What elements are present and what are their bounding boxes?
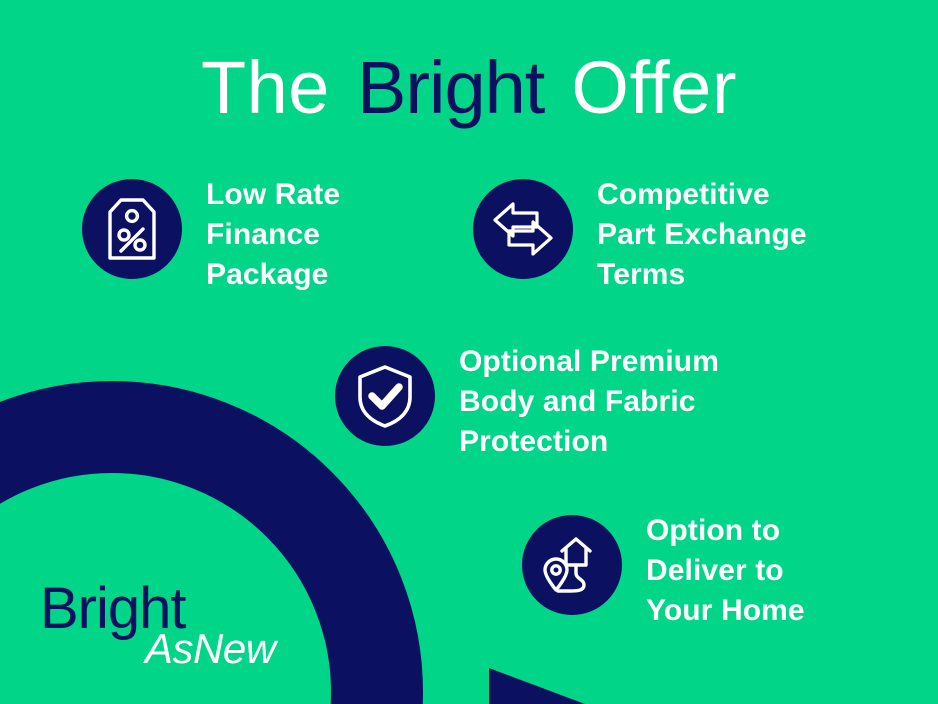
- feature-line: Part Exchange: [597, 215, 807, 255]
- feature-line: Competitive: [597, 175, 807, 215]
- feature-text: Option to Deliver to Your Home: [646, 511, 805, 631]
- brand-logo: Bright AsNew: [40, 580, 300, 690]
- feature-line: Optional Premium: [459, 342, 719, 382]
- feature-icon-badge: [522, 515, 622, 615]
- feature-line: Terms: [597, 255, 807, 295]
- feature-line: Low Rate: [206, 175, 340, 215]
- title-word-offer: Offer: [571, 46, 737, 129]
- delivery-route-home-icon: [540, 535, 604, 595]
- feature-line: Body and Fabric: [459, 382, 719, 422]
- feature-line: Finance: [206, 215, 340, 255]
- feature-line: Deliver to: [646, 551, 805, 591]
- bright-offer-poster: The Bright Offer Low Rate Finance Packag…: [0, 0, 938, 704]
- feature-text: Competitive Part Exchange Terms: [597, 175, 807, 295]
- feature-line: Your Home: [646, 591, 805, 631]
- page-title: The Bright Offer: [0, 42, 938, 134]
- feature-home-delivery: Option to Deliver to Your Home: [522, 515, 805, 631]
- price-tag-percent-icon: [103, 197, 161, 261]
- feature-part-exchange: Competitive Part Exchange Terms: [473, 179, 807, 295]
- feature-line: Option to: [646, 511, 805, 551]
- feature-icon-badge: [335, 346, 435, 446]
- feature-line: Package: [206, 255, 340, 295]
- feature-icon-badge: [473, 179, 573, 279]
- exchange-arrows-icon: [492, 200, 554, 258]
- feature-text: Optional Premium Body and Fabric Protect…: [459, 342, 719, 462]
- title-word-the: The: [201, 46, 330, 129]
- feature-body-fabric-protection: Optional Premium Body and Fabric Protect…: [335, 346, 719, 462]
- feature-icon-badge: [82, 179, 182, 279]
- logo-word-asnew: AsNew: [145, 628, 276, 670]
- feature-text: Low Rate Finance Package: [206, 175, 340, 295]
- decorative-navy-wedge: [489, 668, 585, 704]
- title-word-bright: Bright: [351, 46, 550, 129]
- feature-low-rate-finance: Low Rate Finance Package: [82, 179, 340, 295]
- shield-check-icon: [356, 364, 414, 428]
- feature-line: Protection: [459, 422, 719, 462]
